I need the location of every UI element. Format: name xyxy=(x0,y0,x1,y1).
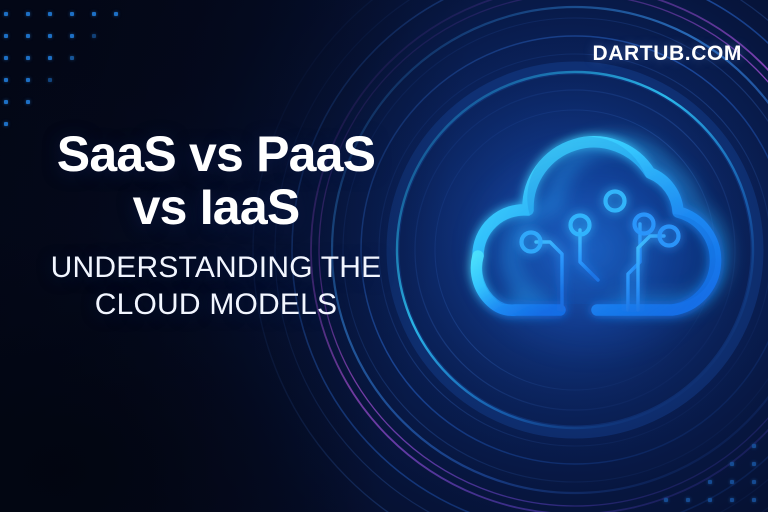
title-line-2: vs IaaS xyxy=(0,181,432,234)
promo-banner: DARTUB.COM SaaS vs PaaS vs IaaS UNDERSTA… xyxy=(0,0,768,512)
brand-logo-text[interactable]: DARTUB.COM xyxy=(593,42,742,66)
page-subtitle: UNDERSTANDING THE CLOUD MODELS xyxy=(0,250,432,323)
subtitle-line-2: CLOUD MODELS xyxy=(0,287,432,324)
title-line-1: SaaS vs PaaS xyxy=(57,126,375,182)
hero-text-block: SaaS vs PaaS vs IaaS UNDERSTANDING THE C… xyxy=(0,128,432,323)
page-title: SaaS vs PaaS vs IaaS xyxy=(0,128,432,234)
subtitle-line-1: UNDERSTANDING THE xyxy=(0,250,432,287)
